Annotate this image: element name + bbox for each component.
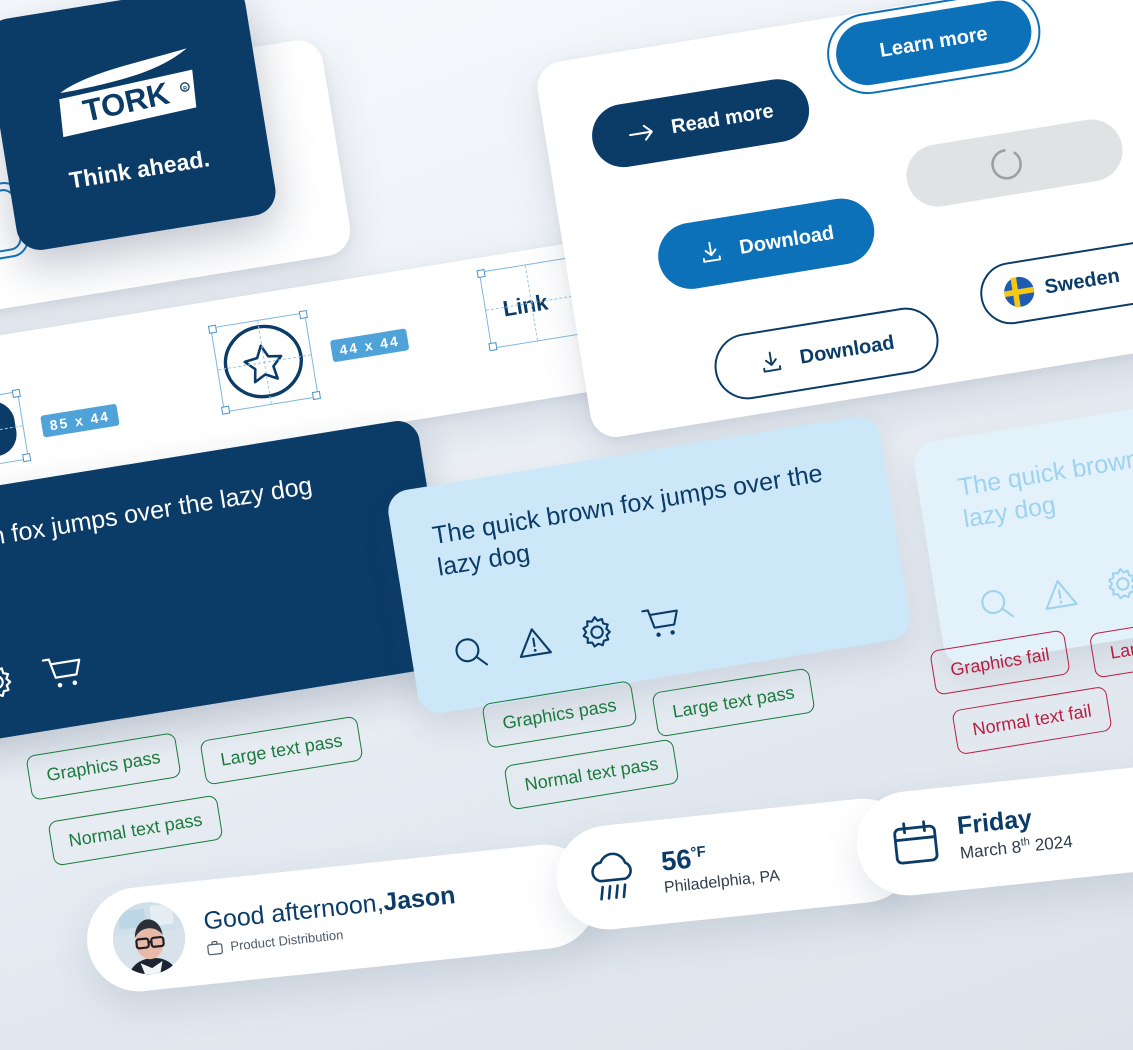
spinner-icon	[985, 142, 1029, 186]
download-button-solid[interactable]: Download	[653, 194, 878, 294]
warning-icon	[1038, 572, 1082, 616]
gear-icon	[1101, 562, 1133, 606]
download-icon	[756, 348, 786, 378]
read-more-button[interactable]: Read more	[587, 75, 814, 172]
pangram-text: The quick brown fox jumps over the lazy …	[0, 457, 393, 580]
avatar-photo	[109, 899, 188, 978]
briefcase-icon	[206, 939, 225, 958]
result-badge: Normal text pass	[504, 739, 680, 811]
selection-bounds	[210, 312, 319, 412]
download-icon	[696, 238, 726, 268]
calendar-icon	[888, 815, 943, 870]
month-day: March 8	[959, 838, 1022, 863]
temperature-unit: °F	[690, 843, 707, 861]
selection-bounds	[0, 391, 29, 478]
tork-logo: TORK R	[48, 45, 206, 142]
download-label: Download	[738, 221, 836, 259]
result-badge: Large text pass	[651, 668, 815, 738]
avatar	[109, 899, 188, 978]
read-more-label: Read more	[670, 100, 776, 139]
brand-tagline: Think ahead.	[8, 136, 271, 205]
language-selector[interactable]: Sweden EN	[976, 229, 1133, 328]
date-card: Friday March 8th 2024	[852, 759, 1133, 900]
download-button-outline[interactable]: Download	[710, 303, 943, 404]
svg-text:R: R	[183, 86, 188, 93]
search-icon	[449, 631, 493, 675]
language-country-label: Sweden	[1043, 264, 1121, 299]
result-badge: Normal text fail	[951, 686, 1112, 755]
dimension-badge-icon: 44 x 44	[330, 328, 409, 362]
year: 2024	[1029, 832, 1073, 855]
result-badge: Large text pass	[199, 716, 363, 786]
rain-cloud-icon	[584, 847, 647, 907]
language-option-country[interactable]: Sweden	[978, 244, 1133, 327]
cart-icon	[638, 600, 686, 644]
result-badge: Graphics pass	[25, 732, 181, 801]
icon-row	[975, 551, 1133, 626]
warning-icon	[512, 621, 556, 665]
arrow-right-icon	[626, 121, 657, 145]
spec-icon: 44 x 44	[215, 315, 313, 413]
brand-logo-card: TORK R Think ahead.	[0, 0, 279, 253]
contrast-card-fail: The quick brown fox jumps over the lazy …	[911, 370, 1133, 668]
learn-more-button[interactable]: Learn more	[831, 0, 1035, 90]
result-badge: Normal text pass	[48, 795, 224, 867]
greeting-name: Jason	[382, 881, 457, 916]
loading-button[interactable]	[902, 115, 1127, 211]
icon-row	[449, 600, 686, 675]
greeting-card: Good afternoon,Jason Product Distributio…	[82, 840, 602, 997]
temperature-value: 56	[660, 843, 693, 876]
gear-icon	[0, 659, 20, 705]
search-icon	[975, 583, 1019, 627]
icon-row	[0, 648, 89, 726]
download-label: Download	[798, 331, 896, 369]
pangram-text: The quick brown fox jumps over the lazy …	[956, 409, 1133, 535]
focus-ring	[821, 0, 1046, 100]
dimension-badge-button: 85 x 44	[40, 404, 119, 438]
sweden-flag-icon	[1002, 275, 1036, 309]
contrast-card-mid: The quick brown fox jumps over the lazy …	[385, 414, 913, 717]
gear-icon	[575, 610, 619, 654]
design-system-showcase: ext TORK R Think ahead.	[0, 0, 1133, 1050]
cart-icon	[39, 648, 89, 695]
pangram-text: The quick brown fox jumps over the lazy …	[430, 453, 859, 584]
buttons-card: Read more Learn more Download Download	[534, 0, 1133, 441]
